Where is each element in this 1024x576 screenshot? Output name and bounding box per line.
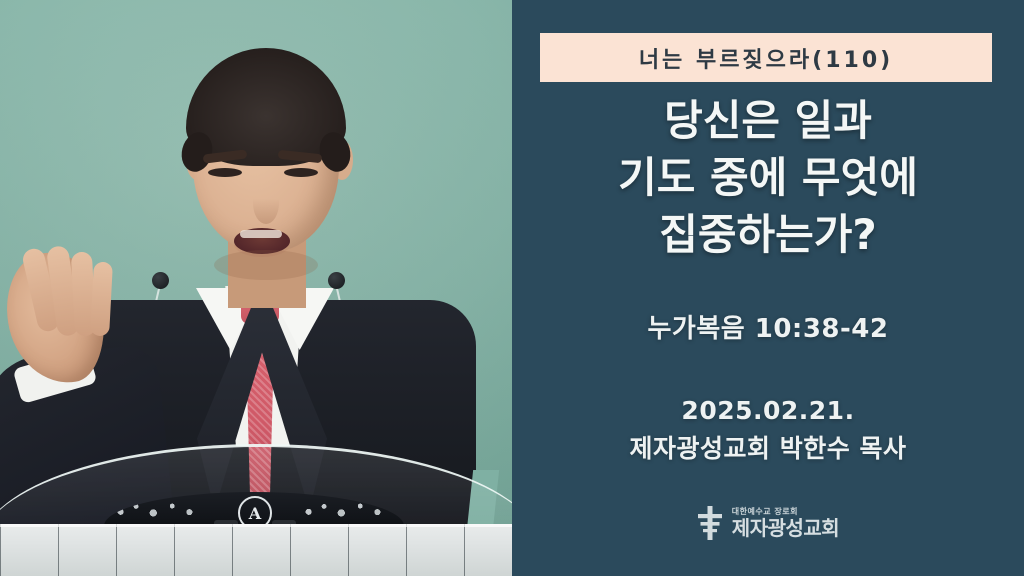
title-line-3: 집중하는가? — [512, 206, 1024, 263]
logo-text: 대한예수교 장로회 제자광성교회 — [732, 508, 839, 538]
podium-top-edge — [0, 524, 512, 527]
eye-left — [208, 168, 242, 177]
sermon-date: 2025.02.21. — [512, 392, 1024, 430]
microphone-head-left — [152, 272, 169, 289]
microphone-head-right — [328, 272, 345, 289]
logo-denomination: 대한예수교 장로회 — [732, 508, 798, 516]
sermon-meta: 2025.02.21. 제자광성교회 박한수 목사 — [512, 392, 1024, 468]
speaker-photo: A — [0, 0, 512, 576]
nose — [253, 182, 279, 224]
series-label: 너는 부르짖으라(110) — [639, 42, 893, 74]
teeth — [240, 230, 282, 238]
logo-church-name: 제자광성교회 — [732, 518, 839, 538]
podium-monogram: A — [238, 496, 272, 526]
podium-top-surface — [0, 524, 512, 576]
chin-shadow — [214, 250, 318, 280]
scrollwork-right — [300, 501, 386, 519]
scrollwork-left — [112, 501, 198, 519]
sermon-title: 당신은 일과 기도 중에 무엇에 집중하는가? — [512, 92, 1024, 263]
finger — [90, 262, 113, 337]
series-banner: 너는 부르짖으라(110) — [540, 33, 992, 82]
church-and-preacher: 제자광성교회 박한수 목사 — [512, 430, 1024, 468]
cross-icon — [697, 505, 723, 541]
eye-right — [284, 168, 318, 177]
scripture-reference: 누가복음 10:38-42 — [512, 308, 1024, 345]
title-line-2: 기도 중에 무엇에 — [512, 149, 1024, 206]
info-panel: 너는 부르짖으라(110) 당신은 일과 기도 중에 무엇에 집중하는가? 누가… — [512, 0, 1024, 576]
church-logo: 대한예수교 장로회 제자광성교회 — [512, 505, 1024, 541]
title-line-1: 당신은 일과 — [512, 92, 1024, 149]
sermon-title-card: A 너는 부르짖으라(110) 당신은 일과 기도 중에 무엇에 집중하는가? … — [0, 0, 1024, 576]
